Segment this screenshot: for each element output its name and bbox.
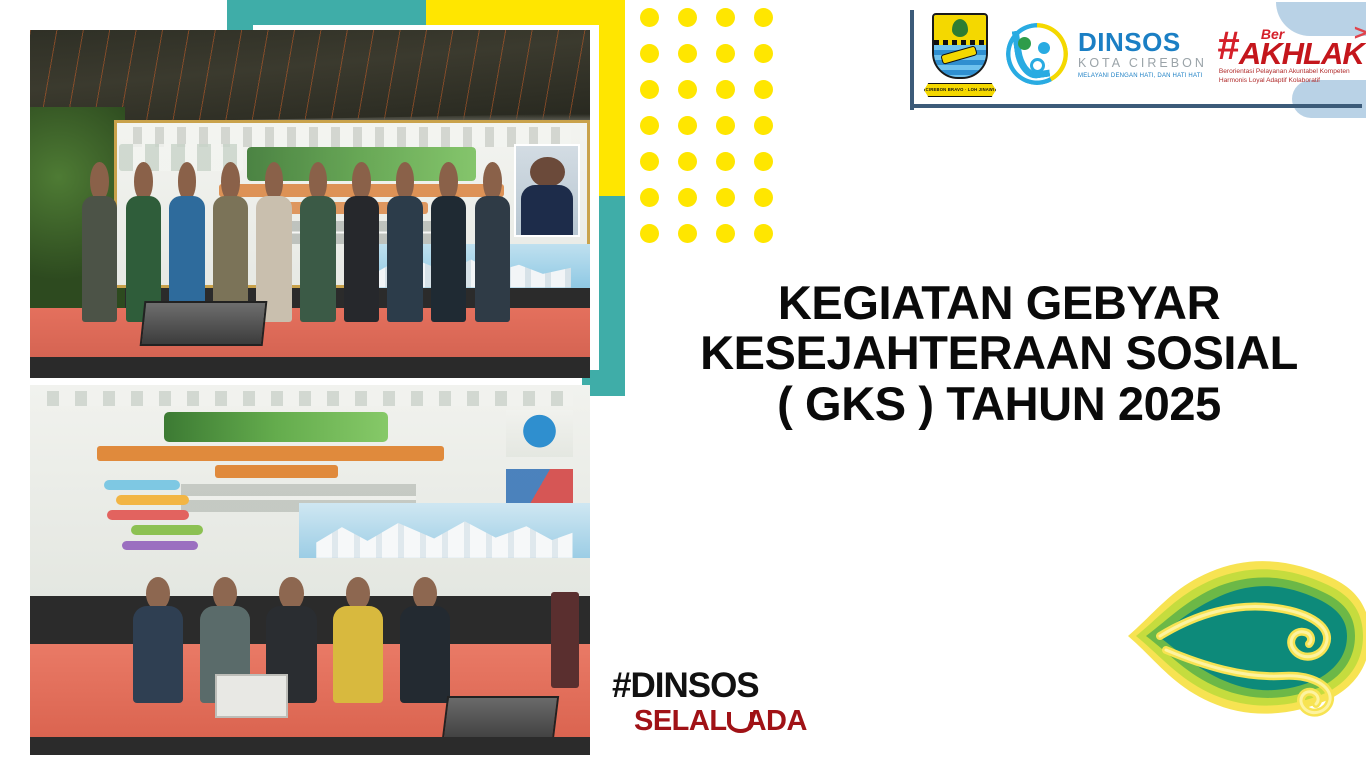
smile-u-icon	[727, 714, 746, 733]
dot-icon	[716, 8, 735, 27]
photo1-stage-monitor	[140, 301, 268, 346]
person-figure	[429, 162, 468, 322]
person-figure	[124, 162, 163, 322]
photo-panggung-peserta	[30, 30, 590, 378]
berakhlak-line2: Harmonis Loyal Adaptif Kolaboratif	[1219, 77, 1320, 84]
hashtag-block: #DINSOS SELALADA	[612, 668, 807, 736]
header-frame-left	[910, 10, 914, 110]
yellow-top-rectangle	[426, 0, 625, 25]
dot-icon	[754, 152, 773, 171]
hashtag-dinsos: #DINSOS	[612, 668, 807, 703]
bubble	[131, 525, 204, 535]
berakhlak-logo: # Ber AKHLAK > Berorientasi Pelayanan Ak…	[1217, 20, 1366, 88]
bubble	[116, 495, 189, 505]
title-line-2: KESEJAHTERAAN SOSIAL	[636, 328, 1362, 378]
person-figure	[131, 577, 186, 703]
dinsos-name: DINSOS	[1078, 29, 1207, 55]
person-figure	[397, 577, 452, 703]
dot-icon	[754, 188, 773, 207]
bubble	[107, 510, 189, 520]
person-figure	[386, 162, 425, 322]
title-line-3: ( GKS ) TAHUN 2025	[636, 379, 1362, 429]
photo2-banner-logo-row	[47, 391, 573, 406]
photo2-bass-guitar	[551, 592, 579, 688]
dinsos-dot-green	[1018, 37, 1031, 50]
dinsos-logo-icon	[1006, 23, 1068, 85]
hashtag-selalu-ada: SELALADA	[634, 707, 807, 736]
dot-icon	[678, 44, 697, 63]
dot-icon	[716, 80, 735, 99]
dot-icon	[640, 116, 659, 135]
dot-icon	[640, 44, 659, 63]
berakhlak-word: AKHLAK	[1239, 38, 1364, 69]
dinsos-tagline: MELAYANI DENGAN HATI, DAN HATI HATI	[1078, 73, 1207, 79]
dot-icon	[716, 152, 735, 171]
crest-motto: CIREBON BRAVO · LOH JINAWI	[925, 84, 995, 95]
page-title: KEGIATAN GEBYAR KESEJAHTERAAN SOSIAL ( G…	[636, 278, 1362, 429]
person-figure	[473, 162, 512, 322]
person-figure	[331, 577, 386, 703]
dinsos-wordmark: DINSOS KOTA CIREBON MELAYANI DENGAN HATI…	[1078, 29, 1207, 79]
header-logo-strip: CIREBON BRAVO · LOH JINAWI DINSOS KOTA C…	[910, 2, 1366, 110]
photo2-banner-cityscape	[299, 503, 590, 558]
person-figure	[255, 162, 294, 322]
teal-top-rectangle	[227, 0, 426, 25]
dot-icon	[678, 80, 697, 99]
photo2-banner-subtitle	[97, 446, 444, 461]
chevron-right-icon: >	[1354, 20, 1366, 46]
dot-icon	[716, 44, 735, 63]
yellow-dot-grid	[640, 8, 792, 256]
photo2-backdrop-banner	[30, 385, 590, 596]
person-figure	[80, 162, 119, 322]
dot-icon	[640, 152, 659, 171]
person-figure	[168, 162, 207, 322]
dot-icon	[716, 188, 735, 207]
header-frame-bottom	[910, 104, 1362, 108]
photo1-people-row	[80, 162, 539, 322]
dot-icon	[678, 188, 697, 207]
dot-icon	[640, 188, 659, 207]
poster-canvas: CIREBON BRAVO · LOH JINAWI DINSOS KOTA C…	[0, 0, 1366, 768]
dot-icon	[678, 116, 697, 135]
photo2-speaker-row	[131, 577, 523, 703]
dot-icon	[640, 80, 659, 99]
photo2-banner-year	[215, 465, 338, 478]
crest-leaf	[952, 19, 969, 38]
dot-icon	[716, 224, 735, 243]
dinsos-dot-white	[1030, 58, 1045, 73]
person-figure	[342, 162, 381, 322]
dot-icon	[640, 8, 659, 27]
hashtag-selalu: SELAL	[634, 705, 727, 737]
dot-icon	[678, 224, 697, 243]
person-figure	[211, 162, 250, 322]
dinsos-subtitle: KOTA CIREBON	[1078, 57, 1207, 70]
dot-icon	[754, 80, 773, 99]
dot-icon	[754, 116, 773, 135]
photo-panggung-talkshow	[30, 385, 590, 755]
dot-icon	[754, 8, 773, 27]
yellow-vertical-bar	[599, 0, 625, 196]
teal-vertical-bar	[599, 196, 625, 370]
dot-icon	[754, 224, 773, 243]
dot-icon	[678, 8, 697, 27]
photo2-banner-hkn-logo	[506, 410, 573, 456]
dot-icon	[754, 44, 773, 63]
photo2-banner-bubbles	[64, 480, 210, 556]
photo2-banner-title	[164, 412, 388, 442]
crest-ribbon: CIREBON BRAVO · LOH JINAWI	[924, 83, 996, 97]
cirebon-crest-icon: CIREBON BRAVO · LOH JINAWI	[924, 11, 996, 97]
bubble	[122, 541, 198, 551]
dot-icon	[678, 152, 697, 171]
person-figure	[299, 162, 338, 322]
title-line-1: KEGIATAN GEBYAR	[636, 278, 1362, 328]
crest-shield	[932, 13, 988, 79]
photo2-front-edge	[30, 737, 590, 756]
photo1-front-edge	[30, 357, 590, 378]
dinsos-dot-blue	[1038, 42, 1050, 54]
mega-mendung-cloud-motif	[1126, 512, 1366, 760]
berakhlak-hash-icon: #	[1217, 26, 1239, 66]
photo2-side-table	[215, 674, 288, 718]
bubble	[104, 480, 180, 490]
dot-icon	[716, 116, 735, 135]
dot-icon	[640, 224, 659, 243]
berakhlak-line1: Berorientasi Pelayanan Akuntabel Kompete…	[1219, 68, 1350, 75]
hashtag-ada: ADA	[746, 705, 807, 737]
